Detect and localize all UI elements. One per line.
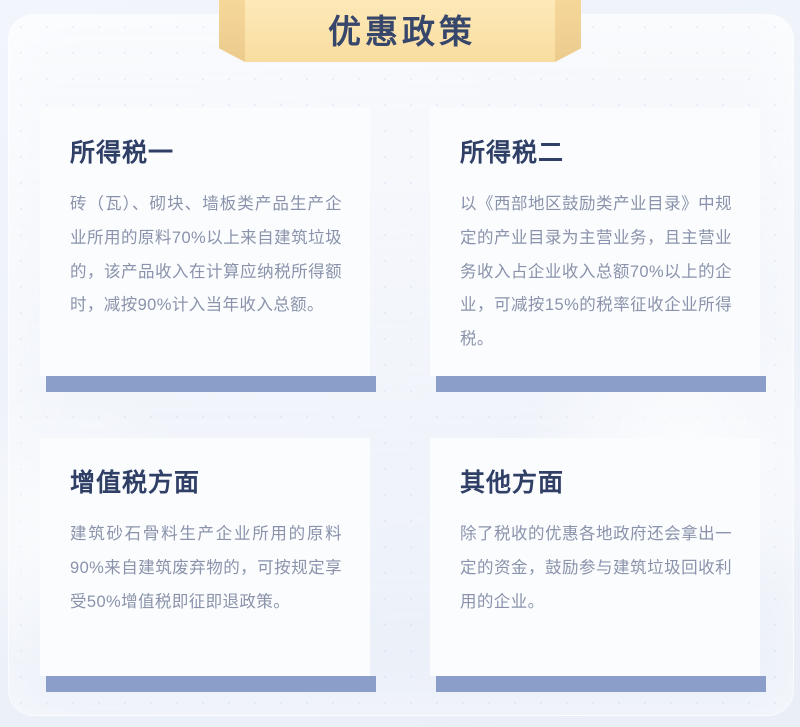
card-title: 其他方面 xyxy=(460,468,732,498)
policy-card-vat[interactable]: 增值税方面 建筑砂石骨料生产企业所用的原料90%来自建筑废弃物的，可按规定享受5… xyxy=(40,438,370,676)
card-body: 除了税收的优惠各地政府还会拿出一定的资金，鼓励参与建筑垃圾回收利用的企业。 xyxy=(460,518,732,619)
policy-card-other[interactable]: 其他方面 除了税收的优惠各地政府还会拿出一定的资金，鼓励参与建筑垃圾回收利用的企… xyxy=(430,438,760,676)
policy-card-income-tax-2[interactable]: 所得税二 以《西部地区鼓励类产业目录》中规定的产业目录为主营业务，且主营业务收入… xyxy=(430,108,760,376)
policy-card-income-tax-1[interactable]: 所得税一 砖（瓦）、砌块、墙板类产品生产企业所用的原料70%以上来自建筑垃圾的，… xyxy=(40,108,370,376)
card-accent-base xyxy=(46,676,376,692)
card-accent-base xyxy=(46,376,376,392)
card-body: 建筑砂石骨料生产企业所用的原料90%来自建筑废弃物的，可按规定享受50%增值税即… xyxy=(70,518,342,619)
card-body: 以《西部地区鼓励类产业目录》中规定的产业目录为主营业务，且主营业务收入占企业收入… xyxy=(460,188,732,357)
card-title: 所得税一 xyxy=(70,138,342,168)
card-body: 砖（瓦）、砌块、墙板类产品生产企业所用的原料70%以上来自建筑垃圾的，该产品收入… xyxy=(70,188,342,323)
card-title: 所得税二 xyxy=(460,138,732,168)
infographic-page: 优惠政策 所得税一 砖（瓦）、砌块、墙板类产品生产企业所用的原料70%以上来自建… xyxy=(0,0,800,727)
card-accent-base xyxy=(436,676,766,692)
card-accent-base xyxy=(436,376,766,392)
card-title: 增值税方面 xyxy=(70,468,342,498)
policy-card-grid: 所得税一 砖（瓦）、砌块、墙板类产品生产企业所用的原料70%以上来自建筑垃圾的，… xyxy=(0,0,800,727)
